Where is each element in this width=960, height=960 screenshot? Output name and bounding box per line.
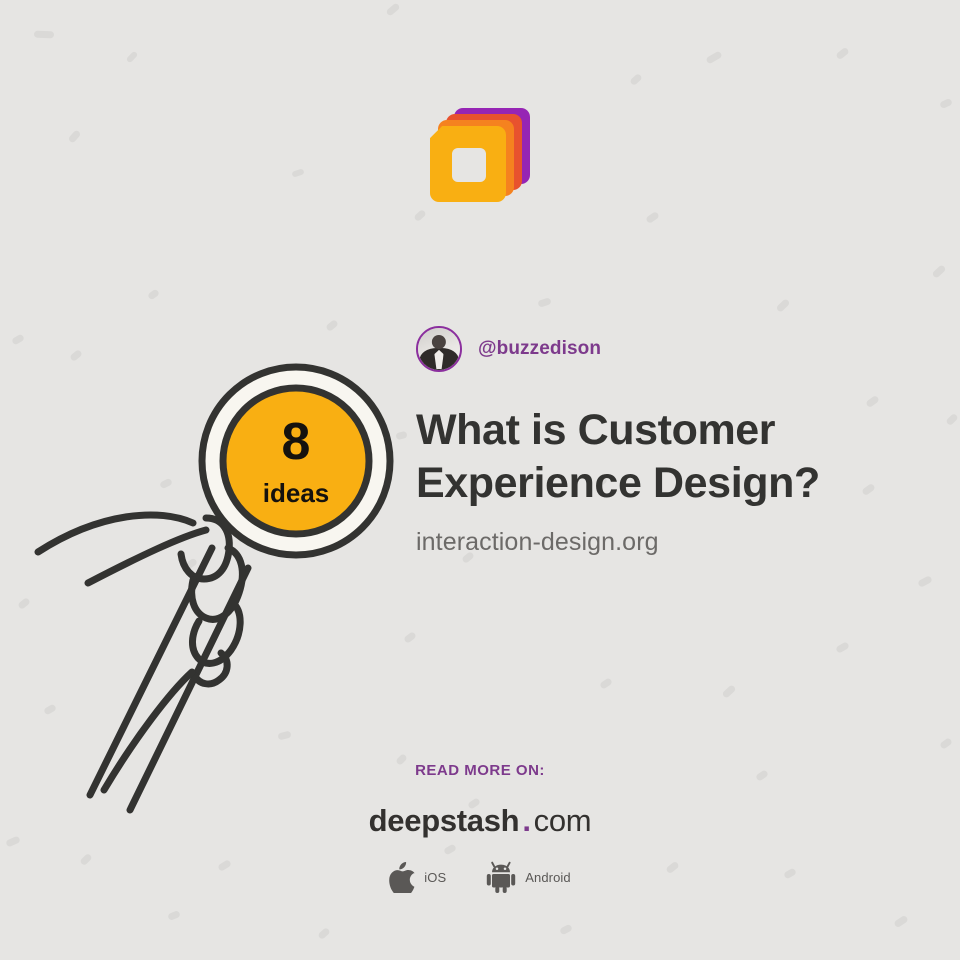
confetti-dash	[385, 2, 400, 16]
confetti-dash	[317, 927, 331, 940]
article-title-line-2: Experience Design?	[416, 457, 856, 510]
android-store-badge[interactable]: Android	[486, 861, 571, 893]
article-title: What is Customer Experience Design?	[416, 404, 856, 510]
deepstash-logo	[430, 100, 530, 200]
article-source: interaction-design.org	[416, 528, 659, 557]
confetti-dash	[629, 73, 643, 86]
author-handle[interactable]: @buzzedison	[478, 338, 601, 360]
brand-wordmark[interactable]: deepstash.com	[0, 803, 960, 839]
ios-store-label: iOS	[424, 870, 446, 885]
confetti-dash	[835, 641, 850, 654]
ideas-count-number: 8	[282, 416, 311, 468]
confetti-dash	[537, 297, 552, 308]
confetti-dash	[931, 264, 946, 279]
confetti-dash	[645, 211, 660, 224]
ideas-count-badge: 8 ideas	[198, 363, 394, 559]
ios-store-badge[interactable]: iOS	[389, 862, 446, 893]
confetti-dash	[68, 129, 82, 143]
brand-name: deepstash	[369, 803, 520, 838]
article-title-line-1: What is Customer	[416, 404, 856, 457]
confetti-dash	[893, 915, 909, 929]
confetti-dash	[721, 684, 736, 699]
confetti-dash	[705, 50, 722, 64]
apple-icon	[389, 862, 415, 893]
brand-dot: .	[519, 803, 533, 838]
logo-inner-cutout	[452, 148, 486, 182]
confetti-dash	[917, 575, 933, 588]
ideas-count-unit: ideas	[263, 480, 330, 506]
android-icon	[486, 861, 516, 893]
confetti-dash	[939, 98, 953, 109]
confetti-dash	[126, 51, 139, 64]
confetti-dash	[147, 288, 160, 300]
android-store-label: Android	[525, 870, 571, 885]
brand-tld: com	[534, 803, 592, 838]
store-badges: iOS	[0, 861, 960, 893]
read-more-label: READ MORE ON:	[0, 762, 960, 779]
confetti-dash	[599, 677, 613, 690]
confetti-dash	[865, 395, 880, 408]
confetti-dash	[167, 910, 181, 921]
confetti-dash	[939, 737, 953, 750]
confetti-dash	[413, 209, 427, 222]
confetti-dash	[945, 413, 958, 426]
confetti-dash	[835, 47, 850, 61]
confetti-dash	[776, 298, 791, 313]
confetti-dash	[291, 168, 304, 177]
deepstash-share-card: 8 ideas @buzzedison What is Customer Exp…	[0, 0, 960, 960]
confetti-dash	[325, 319, 339, 332]
confetti-dash	[34, 31, 54, 39]
author-avatar[interactable]	[416, 326, 462, 372]
footer: READ MORE ON: deepstash.com iOS	[0, 762, 960, 893]
confetti-dash	[559, 924, 573, 936]
confetti-dash	[861, 483, 876, 496]
author-row[interactable]: @buzzedison	[416, 326, 601, 372]
